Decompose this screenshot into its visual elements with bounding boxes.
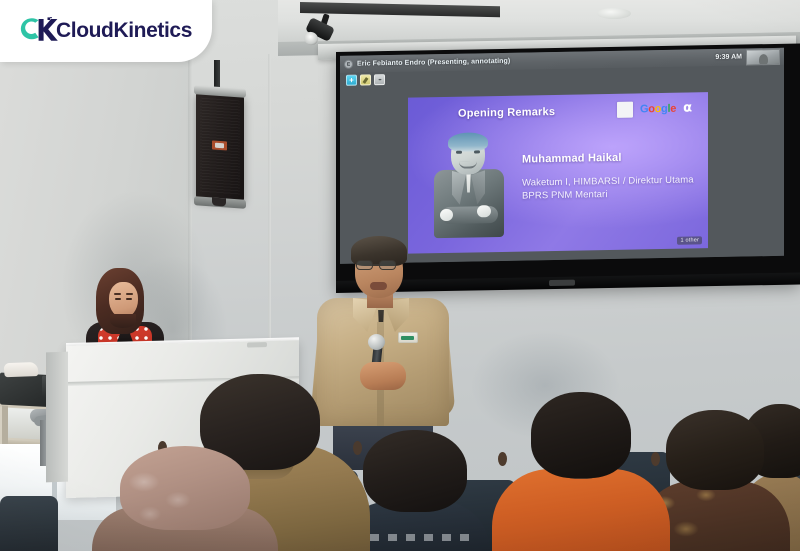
conference-room-photo: E Eric Febianto Endro (Presenting, annot…	[0, 0, 800, 551]
self-view-thumbnail[interactable]	[746, 48, 780, 65]
eyeglasses-right-lens-icon	[379, 260, 396, 270]
portrait-hair	[448, 132, 488, 152]
meeting-clock: 9:39 AM	[715, 54, 742, 61]
white-square-logo-icon	[617, 102, 633, 118]
speaker-mouth	[370, 282, 387, 290]
podium-side-panel	[46, 352, 68, 483]
screen-pull-tab	[549, 280, 575, 286]
portrait-hand-right	[477, 205, 491, 217]
speaker-portrait-illustration	[434, 134, 504, 238]
wall-seam-secondary	[268, 54, 271, 354]
podium-person-brows	[114, 293, 133, 295]
audience-collar-stripe	[352, 534, 478, 541]
audience-head	[666, 410, 764, 490]
top-bar-spacer	[510, 58, 715, 62]
audience-body	[492, 469, 670, 551]
jbl-badge-icon	[212, 140, 227, 150]
headscarf-floral-pattern	[120, 462, 206, 532]
eyeglasses-bridge	[373, 264, 379, 266]
ceiling-downlight	[597, 8, 631, 19]
meeting-top-bar: E Eric Febianto Endro (Presenting, annot…	[340, 48, 784, 73]
portrait-eyes	[456, 150, 480, 153]
audience-head	[363, 430, 467, 512]
audience-ear-right	[651, 452, 660, 466]
speaker-name-badge	[398, 332, 418, 343]
eyeglasses-left-lens-icon	[356, 260, 373, 270]
speaker-bottom-nub	[212, 198, 226, 207]
annotation-toolbar	[346, 74, 385, 86]
slide-speaker-role: Waketum I, HIMBARSI / Direktur Utama BPR…	[522, 173, 697, 202]
podium-person-scarf-chin	[110, 314, 136, 328]
presenter-avatar: E	[344, 60, 353, 69]
podium-person-eyes	[115, 298, 132, 300]
slide-speaker-name: Muhammad Haikal	[522, 150, 697, 165]
podium-cable-notch	[247, 342, 267, 347]
audience-ear-right	[353, 441, 362, 455]
cloudkinetics-wordmark: CloudKinetics	[56, 20, 192, 42]
cloudkinetics-logo-badge: CloudKinetics	[0, 0, 212, 62]
google-logo-icon: Google	[640, 103, 676, 116]
microphone-head-icon	[368, 334, 385, 350]
audience-member-brown-patterned-headscarf	[92, 446, 278, 551]
audience-head	[531, 392, 631, 478]
podium-person-face	[109, 282, 138, 318]
shared-slide: Opening Remarks Google α	[408, 92, 708, 253]
jbl-ceiling-speaker	[196, 91, 244, 202]
portrait-hand-left	[440, 209, 453, 221]
cloudkinetics-mark-icon: α	[683, 102, 692, 114]
more-tools-icon[interactable]	[374, 74, 385, 85]
video-meeting-app: E Eric Febianto Endro (Presenting, annot…	[340, 48, 784, 264]
slide-title: Opening Remarks	[458, 106, 555, 120]
audience-member-orange-shirt	[492, 392, 670, 551]
pen-tool-icon[interactable]	[360, 74, 371, 85]
slide-logo-row: Google α	[617, 100, 692, 117]
audience-chair-back	[0, 496, 58, 551]
projection-screen-surface: E Eric Febianto Endro (Presenting, annot…	[340, 48, 784, 264]
participants-badge[interactable]: 1 other	[677, 236, 702, 244]
audience-ear-left	[498, 452, 507, 466]
presenter-status-label: Eric Febianto Endro (Presenting, annotat…	[357, 58, 510, 68]
ck-monogram-icon	[18, 17, 58, 45]
tissue-sheet	[3, 362, 38, 377]
slide-text-block: Muhammad Haikal Waketum I, HIMBARSI / Di…	[522, 150, 697, 202]
annotate-add-tool-icon[interactable]	[346, 75, 357, 86]
